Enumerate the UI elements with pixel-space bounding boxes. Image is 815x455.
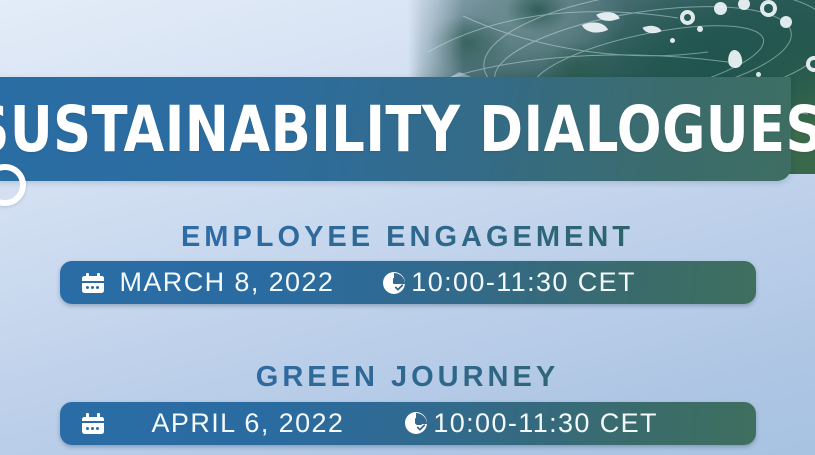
- title-banner: SUSTAINABILITY DIALOGUES: [0, 77, 791, 181]
- event-list: EMPLOYEE ENGAGEMENT MARCH 8, 2022: [0, 222, 815, 445]
- node-dot-icon: [697, 26, 703, 32]
- event-heading: EMPLOYEE ENGAGEMENT: [0, 222, 815, 252]
- event-heading: GREEN JOURNEY: [0, 362, 815, 392]
- water-drop-icon: [727, 49, 743, 68]
- event-time: 10:00-11:30 CET: [411, 267, 636, 298]
- flower-icon: [738, 0, 750, 10]
- calendar-icon: [82, 272, 104, 293]
- calendar-icon: [82, 413, 104, 434]
- event-details-bar: APRIL 6, 2022 10:00-11:30 CET: [60, 402, 756, 445]
- flower-icon: [714, 2, 727, 15]
- event-date: MARCH 8, 2022: [120, 267, 335, 298]
- event-time-cell: 10:00-11:30 CET: [404, 402, 658, 445]
- event-time: 10:00-11:30 CET: [433, 408, 658, 439]
- gear-icon: [680, 10, 695, 25]
- event-details-bar: MARCH 8, 2022 10:00-11:30 CET: [60, 261, 756, 304]
- clock-icon: [404, 411, 428, 435]
- event-date-cell: APRIL 6, 2022: [60, 402, 345, 445]
- event-employee-engagement: EMPLOYEE ENGAGEMENT MARCH 8, 2022: [0, 222, 815, 304]
- event-green-journey: GREEN JOURNEY APRIL 6, 2022: [0, 362, 815, 444]
- clock-icon: [382, 271, 406, 295]
- sustainability-dialogues-poster: SUSTAINABILITY DIALOGUES EMPLOYEE ENGAGE…: [0, 0, 815, 455]
- event-date-cell: MARCH 8, 2022: [60, 261, 335, 304]
- flower-icon: [780, 16, 792, 28]
- gear-icon: [760, 0, 777, 17]
- node-dot-icon: [670, 38, 675, 43]
- gear-icon: [806, 56, 815, 72]
- event-time-cell: 10:00-11:30 CET: [382, 261, 636, 304]
- leaf-icon: [642, 21, 661, 38]
- event-date: APRIL 6, 2022: [120, 408, 345, 439]
- page-title: SUSTAINABILITY DIALOGUES: [0, 98, 815, 161]
